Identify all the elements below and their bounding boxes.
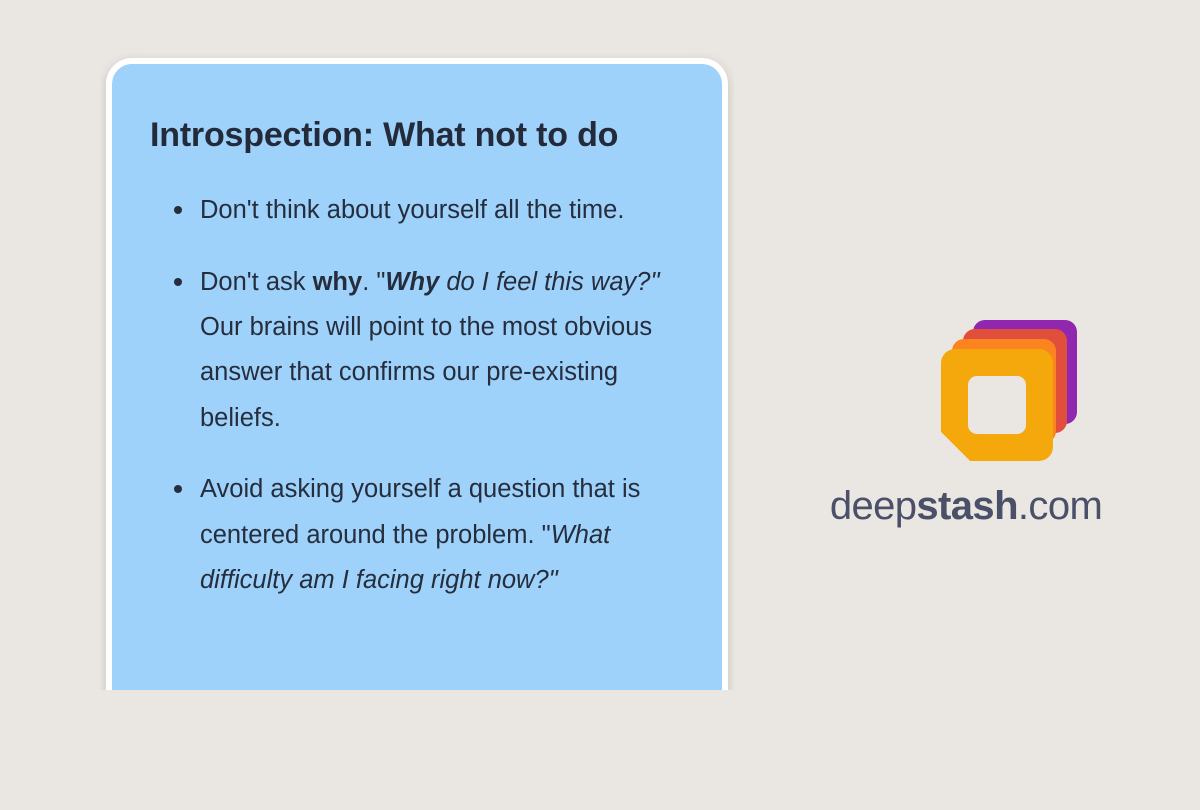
bullet-text: Don't think about yourself all the time. <box>200 196 624 224</box>
deepstash-wordmark: deepstash.com <box>806 484 1126 529</box>
card-clip-mask <box>0 690 1200 810</box>
list-item: Avoid asking yourself a question that is… <box>174 467 688 603</box>
logo-inner-cutout <box>968 376 1026 434</box>
wordmark-stash: stash <box>916 484 1018 528</box>
wordmark-deep: deep <box>830 484 917 528</box>
bullet-text: Don't ask why. "Why do I feel this way?"… <box>200 268 660 432</box>
card-title: Introspection: What not to do <box>150 110 688 160</box>
branding-block: deepstash.com <box>806 312 1126 529</box>
list-item: Don't ask why. "Why do I feel this way?"… <box>174 260 688 442</box>
list-item: Don't think about yourself all the time. <box>174 188 688 233</box>
card-bullet-list: Don't think about yourself all the time.… <box>150 188 688 603</box>
card-body: Introspection: What not to do Don't thin… <box>112 64 722 744</box>
quote-card: Introspection: What not to do Don't thin… <box>100 52 734 744</box>
card-content: Introspection: What not to do Don't thin… <box>112 64 722 603</box>
wordmark-tld: .com <box>1018 484 1102 528</box>
deepstash-stacked-cards-logo <box>851 312 1081 462</box>
bullet-text: Avoid asking yourself a question that is… <box>200 475 640 594</box>
